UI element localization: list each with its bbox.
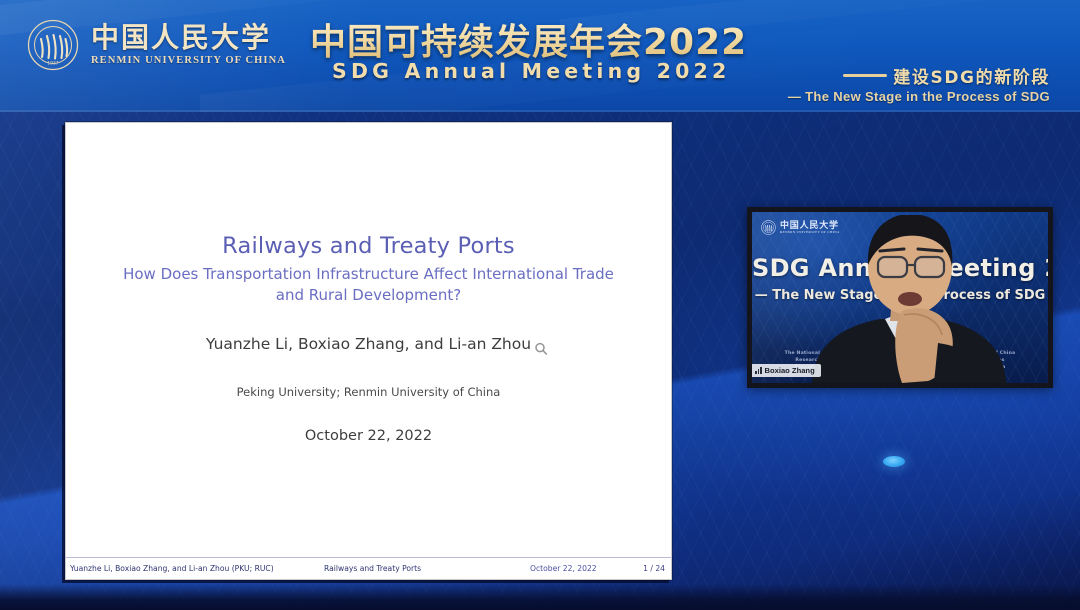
event-subtitle-en: — The New Stage in the Process of SDG bbox=[788, 89, 1050, 104]
stage-bottom-shade bbox=[0, 584, 1080, 610]
video-university-logo: 中国人民大学 RENMIN UNIVERSITY OF CHINA bbox=[761, 220, 840, 235]
speaker-video-tile[interactable]: 中国人民大学 RENMIN UNIVERSITY OF CHINA SDG An… bbox=[747, 207, 1053, 388]
event-subtitle-cn: 建设SDG的新阶段 bbox=[843, 63, 1050, 88]
video-backdrop-title: SDG Annual Meeting 2022 bbox=[752, 254, 1048, 282]
video-university-name-cn: 中国人民大学 bbox=[780, 221, 840, 230]
dash-rule-icon bbox=[843, 74, 887, 77]
slide-footer: Yuanzhe Li, Boxiao Zhang, and Li-an Zhou… bbox=[66, 557, 671, 579]
university-logo: 1937 中国人民大学 RENMIN UNIVERSITY OF CHINA bbox=[27, 19, 286, 71]
slide-footer-date: October 22, 2022 bbox=[530, 564, 597, 573]
video-university-name-en: RENMIN UNIVERSITY OF CHINA bbox=[780, 230, 840, 234]
renmin-university-seal-icon: 1937 bbox=[27, 19, 79, 71]
event-header-banner: 1937 中国人民大学 RENMIN UNIVERSITY OF CHINA 中… bbox=[0, 0, 1080, 112]
slide-page-number: 1 / 24 bbox=[643, 564, 665, 573]
slide-footer-title: Railways and Treaty Ports bbox=[324, 564, 421, 573]
university-name-cn: 中国人民大学 bbox=[91, 24, 286, 53]
presentation-slide[interactable]: Railways and Treaty Ports How Does Trans… bbox=[65, 122, 672, 580]
svg-text:1937: 1937 bbox=[47, 61, 58, 67]
renmin-university-seal-icon bbox=[761, 220, 776, 235]
backdrop-glow-dot bbox=[883, 456, 905, 467]
participant-name: Boxiao Zhang bbox=[765, 366, 815, 375]
video-backdrop-subtitle: — The New Stage in the Process of SDG bbox=[752, 288, 1048, 303]
video-backdrop: 中国人民大学 RENMIN UNIVERSITY OF CHINA SDG An… bbox=[752, 212, 1048, 383]
slide-date: October 22, 2022 bbox=[66, 428, 671, 444]
university-name-en: RENMIN UNIVERSITY OF CHINA bbox=[91, 55, 286, 66]
event-title-cn: 中国可持续发展年会2022 bbox=[310, 13, 747, 65]
slide-footer-author: Yuanzhe Li, Boxiao Zhang, and Li-an Zhou… bbox=[70, 564, 274, 573]
slide-content: Railways and Treaty Ports How Does Trans… bbox=[66, 123, 671, 557]
event-subtitle-cn-text: 建设SDG的新阶段 bbox=[893, 63, 1050, 88]
participant-name-tag: Boxiao Zhang bbox=[752, 364, 821, 377]
slide-subtitle: How Does Transportation Infrastructure A… bbox=[118, 264, 619, 307]
presentation-stage: 1937 中国人民大学 RENMIN UNIVERSITY OF CHINA 中… bbox=[0, 0, 1080, 610]
magnifier-cursor-icon bbox=[534, 342, 548, 356]
slide-authors: Yuanzhe Li, Boxiao Zhang, and Li-an Zhou bbox=[66, 335, 671, 353]
signal-strength-icon bbox=[755, 367, 762, 374]
slide-affiliation: Peking University; Renmin University of … bbox=[66, 385, 671, 399]
event-title-en: SDG Annual Meeting 2022 bbox=[332, 59, 731, 83]
slide-title: Railways and Treaty Ports bbox=[66, 233, 671, 259]
